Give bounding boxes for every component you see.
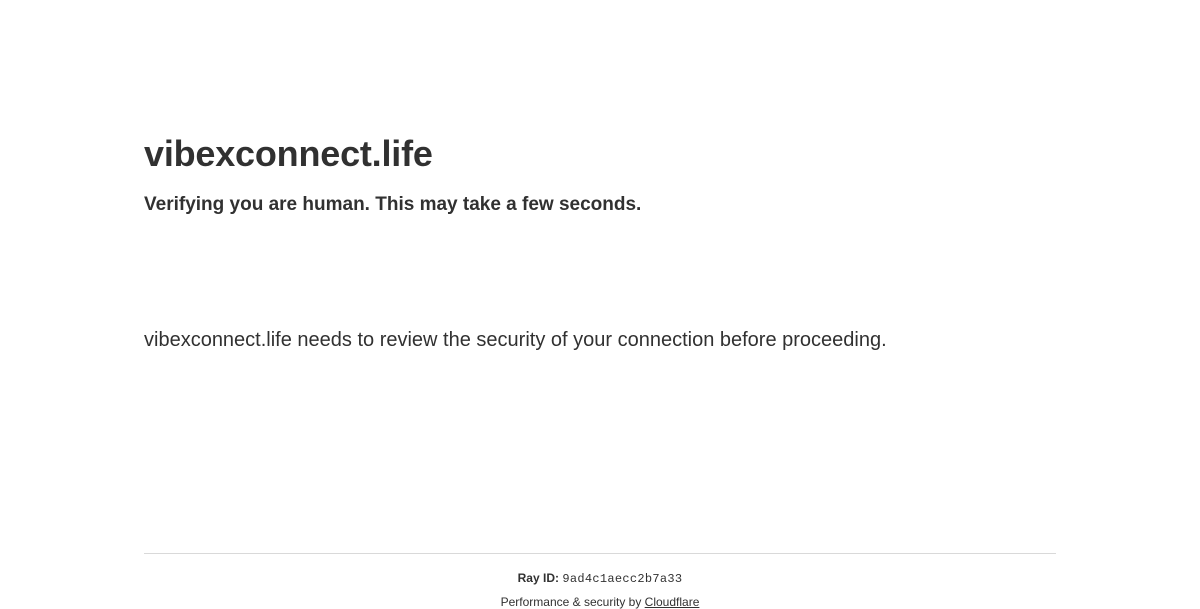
cloudflare-link[interactable]: Cloudflare	[645, 595, 700, 609]
footer: Ray ID: 9ad4c1aecc2b7a33 Performance & s…	[144, 553, 1056, 609]
page-title: vibexconnect.life	[144, 132, 433, 176]
ray-id-label: Ray ID:	[518, 571, 559, 585]
turnstile-widget-slot[interactable]	[144, 240, 464, 310]
challenge-page: vibexconnect.life Verifying you are huma…	[0, 0, 1200, 600]
ray-id-value: 9ad4c1aecc2b7a33	[562, 572, 682, 586]
challenge-description: vibexconnect.life needs to review the se…	[144, 322, 944, 358]
verification-status-text: Verifying you are human. This may take a…	[144, 192, 641, 218]
attribution-row: Performance & security by Cloudflare	[144, 586, 1056, 609]
challenge-content: vibexconnect.life Verifying you are huma…	[144, 0, 1056, 553]
ray-id-row: Ray ID: 9ad4c1aecc2b7a33	[144, 554, 1056, 586]
attribution-prefix: Performance & security by	[501, 595, 645, 609]
